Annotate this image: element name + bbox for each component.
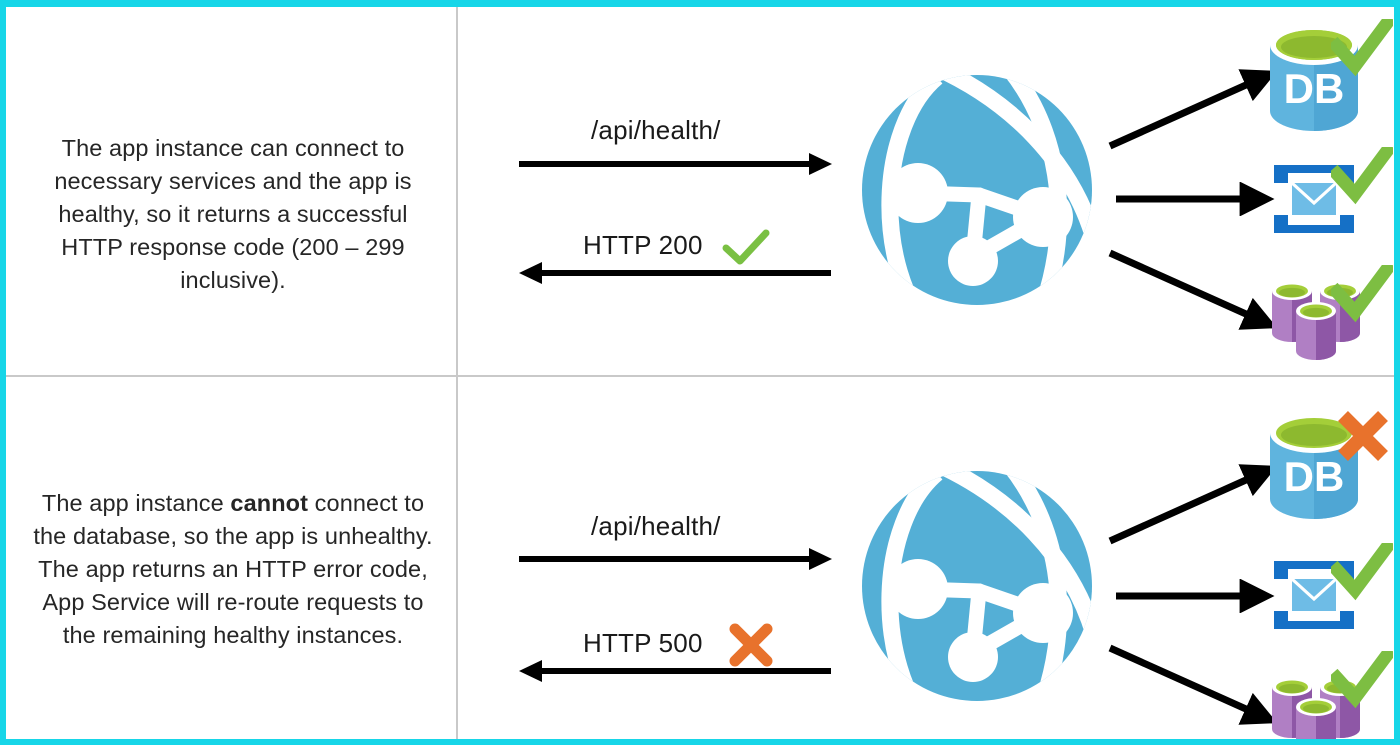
green-check-icon [722, 228, 770, 268]
connector-arrow-storage-healthy [1106, 247, 1286, 342]
green-check-icon [1331, 265, 1393, 323]
request-arrow-unhealthy [519, 556, 831, 562]
request-label-healthy: /api/health/ [591, 115, 721, 146]
connector-arrow-storage-unhealthy [1106, 642, 1286, 737]
arrow-shaft [519, 556, 811, 562]
green-check-icon [1331, 651, 1393, 709]
green-check-icon [1331, 147, 1393, 205]
description-unhealthy-emphasis: cannot [230, 490, 308, 516]
arrow-head-right-icon [809, 548, 832, 570]
green-check-icon [1331, 543, 1393, 601]
orange-x-icon [1332, 405, 1394, 467]
app-service-globe-icon [861, 431, 1093, 745]
description-unhealthy: The app instance cannot connect to the d… [14, 487, 452, 652]
description-healthy: The app instance can connect to necessar… [14, 132, 452, 297]
orange-x-icon [726, 620, 776, 670]
request-label-unhealthy: /api/health/ [591, 511, 721, 542]
response-label-healthy: HTTP 200 [583, 230, 703, 261]
description-unhealthy-part-1: The app instance [42, 490, 231, 516]
response-label-unhealthy: HTTP 500 [583, 628, 703, 659]
request-arrow-healthy [519, 161, 831, 167]
green-check-icon [1331, 19, 1393, 77]
arrow-head-left-icon [519, 660, 542, 682]
diagram-canvas: The app instance can connect to necessar… [6, 7, 1394, 739]
connector-arrow-email-healthy [1114, 182, 1284, 221]
connector-arrow-email-unhealthy [1114, 579, 1284, 618]
connector-arrow-db-healthy [1106, 62, 1286, 157]
vertical-divider [456, 7, 458, 739]
arrow-head-left-icon [519, 262, 542, 284]
app-service-globe-icon [861, 35, 1093, 350]
arrow-shaft [519, 161, 811, 167]
arrow-head-right-icon [809, 153, 832, 175]
response-arrow-healthy [519, 270, 831, 276]
connector-arrow-db-unhealthy [1106, 457, 1286, 552]
response-arrow-unhealthy [519, 668, 831, 674]
arrow-shaft [539, 668, 831, 674]
horizontal-divider [6, 375, 1394, 377]
diagram-frame: The app instance can connect to necessar… [0, 0, 1400, 745]
arrow-shaft [539, 270, 831, 276]
